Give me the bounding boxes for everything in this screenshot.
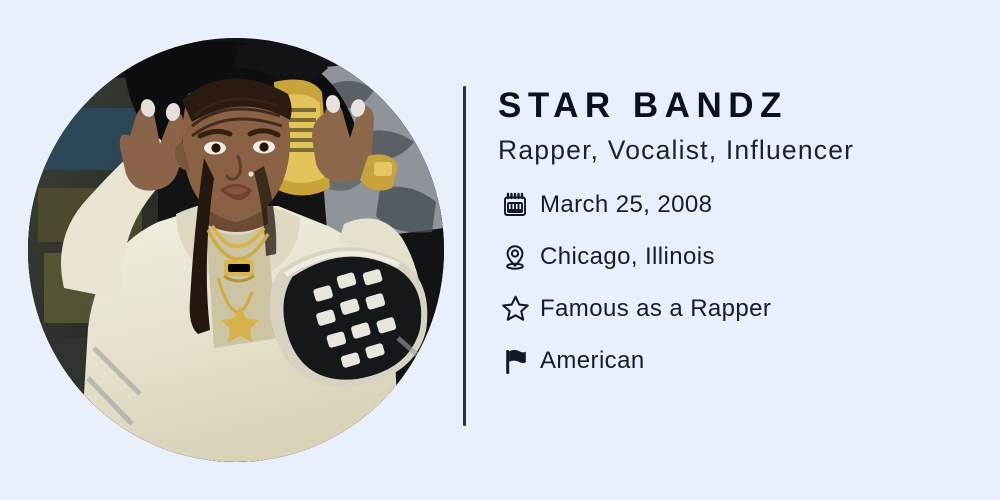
page-title: STAR BANDZ [498, 86, 978, 125]
flag-icon [498, 344, 532, 378]
fact-birthdate-value: March 25, 2008 [540, 191, 712, 219]
location-pin-icon [498, 240, 532, 274]
fact-nationality: American [498, 344, 978, 378]
profile-card: STAR BANDZ Rapper, Vocalist, Influencer [0, 0, 1000, 500]
profile-info: STAR BANDZ Rapper, Vocalist, Influencer [498, 86, 978, 378]
profile-tagline: Rapper, Vocalist, Influencer [498, 135, 978, 165]
fact-famous-as-value: Famous as a Rapper [540, 295, 771, 323]
profile-photo [28, 38, 444, 462]
profile-facts-list: March 25, 2008 Chicago, Illinois [498, 188, 978, 378]
portrait-illustration [28, 38, 444, 462]
fact-birthplace: Chicago, Illinois [498, 240, 978, 274]
calendar-icon [498, 188, 532, 222]
fact-birthplace-value: Chicago, Illinois [540, 243, 715, 271]
fact-nationality-value: American [540, 347, 645, 375]
star-icon [498, 292, 532, 326]
vertical-divider [463, 86, 466, 426]
fact-famous-as: Famous as a Rapper [498, 292, 978, 326]
fact-birthdate: March 25, 2008 [498, 188, 978, 222]
